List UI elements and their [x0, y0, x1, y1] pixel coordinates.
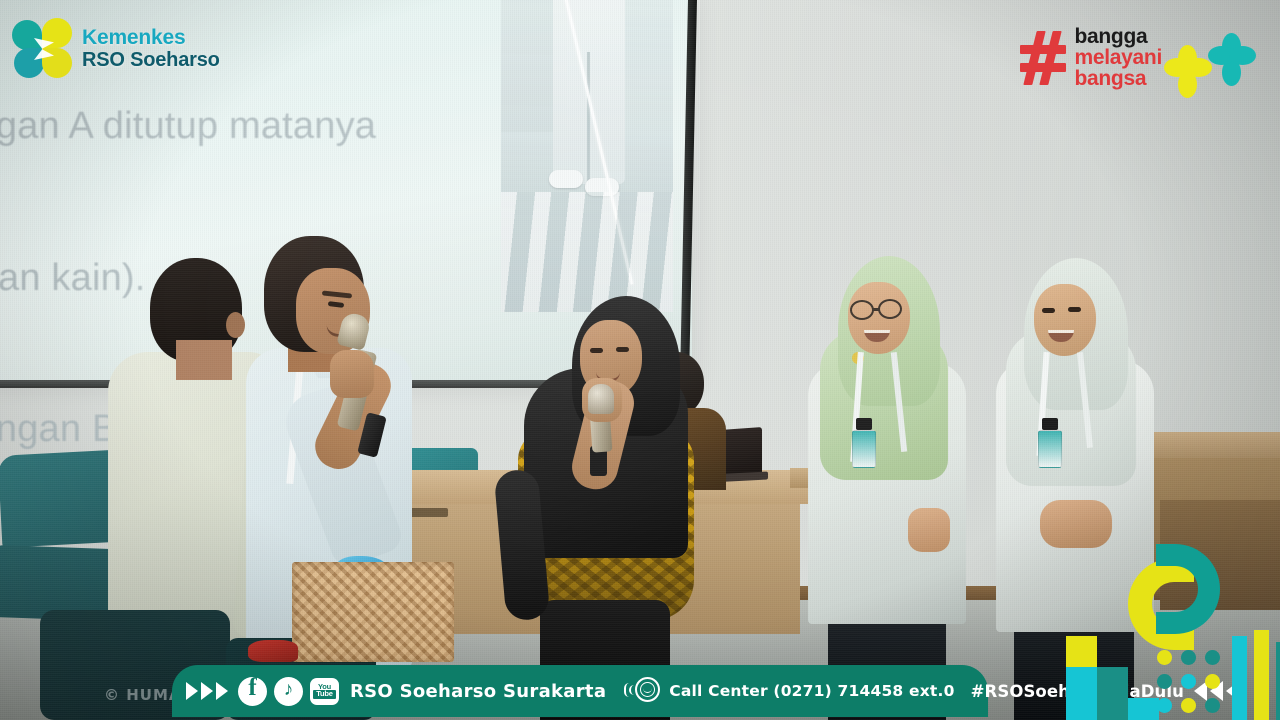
bangga-line-2: melayani [1075, 47, 1163, 68]
four-petal-flower-yellow-icon [1164, 46, 1212, 98]
youtube-icon-bottom: Tube [313, 690, 336, 699]
slide-photo-white-cane [501, 0, 673, 312]
hash-stroke-h1 [1020, 45, 1066, 54]
dot-yellow-3 [1181, 698, 1196, 713]
woman-pale-clasped-hands [1040, 500, 1112, 548]
woman-green-badge-clip [856, 418, 872, 430]
rso-pixel-logo-motif [1056, 548, 1280, 720]
dot-yellow-2 [1205, 674, 1220, 689]
woven-gift-basket [292, 562, 454, 662]
sound-wave-inner [629, 685, 634, 695]
kemenkes-line-2: RSO Soeharso [82, 50, 220, 71]
slide-line-1: sangan A ditutup matanya [0, 101, 494, 152]
dot-teal-2 [1205, 650, 1220, 665]
arrow-3 [216, 682, 228, 700]
facebook-icon[interactable] [238, 677, 267, 706]
dot-cyan-2 [1157, 698, 1172, 713]
woman-center-eye-right [616, 347, 629, 352]
petal-bottom-left [14, 48, 44, 78]
woman-green-id-badge [852, 430, 876, 468]
woman-pale-badge-clip [1042, 418, 1058, 430]
square-cyan-1 [1066, 667, 1097, 698]
woman-pale-eye-right [1068, 307, 1081, 312]
kemenkes-line-1: Kemenkes [82, 27, 220, 49]
hashtag-icon [1020, 31, 1066, 85]
dot-teal-3 [1157, 674, 1172, 689]
four-petal-flower-teal-icon [1208, 34, 1256, 86]
bar-cyan-1 [1232, 636, 1247, 720]
dot-teal-4 [1205, 698, 1220, 713]
dot-cyan-1 [1181, 674, 1196, 689]
woman-pale-id-badge [1038, 430, 1062, 468]
call-center-text: Call Center (0271) 714458 ext.0 [669, 682, 954, 700]
petal-top-left [12, 20, 42, 50]
slide-line-2: engan kain). [0, 253, 494, 304]
woman-center-eye-left [590, 348, 603, 353]
woman-pale-face [1034, 284, 1096, 356]
woman-green-hand [908, 508, 950, 552]
square-teal-1 [1097, 667, 1128, 698]
table-object [406, 508, 448, 517]
kemenkes-logo-text: Kemenkes RSO Soeharso [82, 27, 220, 70]
youtube-icon[interactable]: You Tube [310, 678, 339, 705]
bangga-logo-text: bangga melayani bangsa [1075, 26, 1163, 89]
c-shape-teal-icon [1156, 544, 1220, 634]
square-yellow-1 [1066, 636, 1097, 667]
woman-green-glasses-bridge [872, 308, 880, 311]
man-mic-hand [330, 350, 374, 398]
man-left-neck [176, 340, 232, 380]
square-teal-2 [1097, 698, 1128, 720]
hash-stroke-h2 [1020, 63, 1066, 72]
call-center-headset-icon [628, 676, 662, 706]
woman-pale-eye-left [1042, 308, 1055, 313]
flower-petal-right [1229, 46, 1256, 65]
tiktok-icon[interactable] [274, 677, 303, 706]
social-handle: RSO Soeharso Surakarta [350, 681, 606, 702]
man-left-ear [226, 312, 245, 338]
screenshot-root: sangan A ditutup matanya engan kain). as… [0, 0, 1280, 720]
four-petal-flowers-group [1162, 36, 1266, 98]
arrow-1 [186, 682, 198, 700]
red-object [248, 640, 298, 662]
square-cyan-3 [1066, 698, 1097, 720]
woman-center-microphone-head [588, 384, 614, 414]
dot-teal-1 [1181, 650, 1196, 665]
bangga-line-1: bangga [1075, 26, 1163, 47]
kemenkes-logo: Kemenkes RSO Soeharso [12, 18, 220, 80]
dot-yellow-1 [1157, 650, 1172, 665]
bar-yellow-1 [1254, 630, 1269, 720]
arrow-2 [201, 682, 213, 700]
slide-photo-leg-split [587, 52, 590, 182]
square-cyan-2 [1128, 698, 1159, 720]
slide-photo-crosswalk [501, 192, 673, 312]
bangga-line-3: bangsa [1075, 68, 1163, 89]
woman-green-glasses-left-lens [850, 300, 874, 320]
arrows-right-icon [186, 682, 228, 700]
bar-teal-1 [1276, 642, 1280, 720]
bottom-social-banner: You Tube RSO Soeharso Surakarta Call Cen… [172, 665, 988, 717]
kemenkes-flower-mark-icon [12, 18, 74, 80]
slide-photo-shoe-left [549, 170, 583, 188]
woman-green-glasses-right-lens [878, 299, 902, 319]
bangga-melayani-bangsa-logo: bangga melayani bangsa [1020, 26, 1163, 89]
